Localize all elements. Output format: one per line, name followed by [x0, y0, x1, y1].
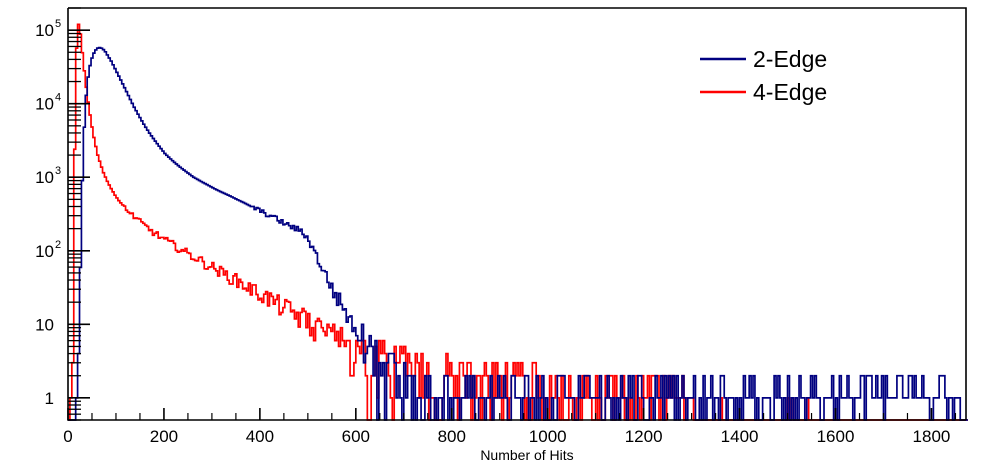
svg-text:2: 2: [55, 239, 61, 251]
x-tick-label: 1600: [817, 427, 855, 446]
x-tick-label: 1800: [913, 427, 951, 446]
x-tick-label: 800: [438, 427, 466, 446]
y-tick-label: 105: [35, 18, 61, 40]
svg-text:4: 4: [55, 92, 61, 104]
x-tick-label: 1200: [625, 427, 663, 446]
x-tick-label: 600: [342, 427, 370, 446]
legend-label-4-edge: 4-Edge: [753, 79, 827, 105]
svg-text:10: 10: [35, 242, 54, 261]
svg-text:3: 3: [55, 165, 61, 177]
x-axis-title: Number of Hits: [480, 447, 573, 463]
svg-text:10: 10: [35, 315, 54, 334]
x-tick-label: 1400: [721, 427, 759, 446]
histogram-plot: 110102103104105 020040060080010001200140…: [0, 0, 996, 472]
x-tick-label: 400: [246, 427, 274, 446]
y-axis-label-layer: 110102103104105: [35, 18, 61, 408]
plot-area-background: [68, 8, 966, 420]
x-tick-label: 1000: [529, 427, 567, 446]
chart-canvas: 110102103104105 020040060080010001200140…: [0, 0, 996, 472]
x-axis-label-layer: 020040060080010001200140016001800: [63, 427, 950, 446]
y-tick-label: 103: [35, 165, 61, 187]
y-tick-label: 1: [45, 389, 54, 408]
y-tick-label: 104: [35, 92, 61, 114]
y-tick-label: 102: [35, 239, 61, 261]
svg-text:10: 10: [35, 168, 54, 187]
svg-text:10: 10: [35, 95, 54, 114]
y-tick-label: 10: [35, 315, 54, 334]
svg-text:5: 5: [55, 18, 61, 30]
svg-text:10: 10: [35, 21, 54, 40]
x-tick-label: 200: [150, 427, 178, 446]
svg-text:1: 1: [45, 389, 54, 408]
legend-label-2-edge: 2-Edge: [753, 46, 827, 72]
x-tick-label: 0: [63, 427, 72, 446]
